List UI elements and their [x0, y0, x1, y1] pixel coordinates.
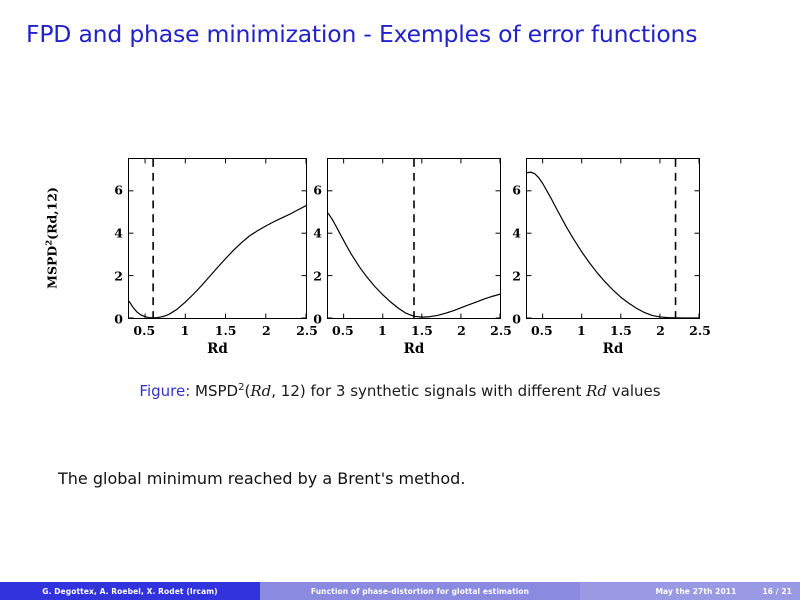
plot-area-2	[328, 159, 500, 318]
y-tick-label: 0	[497, 312, 521, 327]
y-tick-label: 2	[497, 269, 521, 284]
y-tick-label: 4	[497, 226, 521, 241]
figure-three-panel-plot: MSPD2(Rd,12) 0.511.522.50246Rd0.511.522.…	[0, 0, 800, 600]
x-tick-label: 2.5	[683, 323, 717, 338]
plot-panel-2	[327, 158, 501, 319]
x-axis-label: Rd	[526, 341, 700, 357]
plot-curve-svg-3	[527, 159, 699, 318]
x-tick-label: 1	[564, 323, 598, 338]
y-tick-label: 6	[497, 183, 521, 198]
figure-caption-key: Figure:	[139, 382, 190, 400]
plot-panel-3	[526, 158, 700, 319]
body-text: The global minimum reached by a Brent's …	[58, 469, 465, 488]
plot-area-1	[129, 159, 306, 318]
y-tick-label: 0	[99, 312, 123, 327]
footer-subject: Function of phase-distortion for glottal…	[260, 582, 580, 600]
y-axis-label-exponent: 2	[44, 240, 54, 246]
x-tick-label: 0.5	[525, 323, 559, 338]
y-tick-label: 2	[99, 269, 123, 284]
figure-caption-text-3: , 12) for 3 synthetic signals with diffe…	[271, 382, 586, 400]
y-axis-label: MSPD2(Rd,12)	[44, 187, 59, 289]
x-axis-label: Rd	[327, 341, 501, 357]
x-tick-label: 0.5	[127, 323, 161, 338]
x-tick-label: 2	[643, 323, 677, 338]
plot-curve-svg-2	[328, 159, 500, 318]
figure-caption: Figure: MSPD2(Rd, 12) for 3 synthetic si…	[0, 382, 800, 400]
y-tick-label: 0	[298, 312, 322, 327]
x-tick-label: 1	[168, 323, 202, 338]
footer-meta: May the 27th 2011 16 / 21	[580, 582, 800, 600]
footer-authors: G. Degottex, A. Roebel, X. Rodet (Ircam)	[0, 582, 260, 600]
x-tick-label: 0.5	[326, 323, 360, 338]
y-tick-label: 6	[298, 183, 322, 198]
plot-panel-1	[128, 158, 307, 319]
plot-curve-svg-1	[129, 159, 306, 318]
plot-area-3	[527, 159, 699, 318]
y-tick-label: 4	[298, 226, 322, 241]
x-tick-label: 1	[365, 323, 399, 338]
footer-bar: G. Degottex, A. Roebel, X. Rodet (Ircam)…	[0, 582, 800, 600]
x-axis-label: Rd	[128, 341, 307, 357]
figure-caption-formula: MSPD	[195, 382, 238, 400]
y-axis-label-main: MSPD	[45, 246, 60, 289]
y-axis-label-args: (Rd,12)	[45, 187, 60, 240]
x-tick-label: 1.5	[209, 323, 243, 338]
footer-page-number: 16 / 21	[762, 587, 792, 596]
figure-caption-var-2: Rd	[586, 382, 607, 400]
footer-date: May the 27th 2011	[655, 587, 736, 596]
y-tick-label: 6	[99, 183, 123, 198]
x-tick-label: 2	[444, 323, 478, 338]
x-tick-label: 1.5	[604, 323, 638, 338]
figure-caption-var-1: Rd	[250, 382, 271, 400]
figure-caption-text-4: values	[607, 382, 661, 400]
y-tick-label: 4	[99, 226, 123, 241]
x-tick-label: 1.5	[405, 323, 439, 338]
y-tick-label: 2	[298, 269, 322, 284]
x-tick-label: 2	[249, 323, 283, 338]
